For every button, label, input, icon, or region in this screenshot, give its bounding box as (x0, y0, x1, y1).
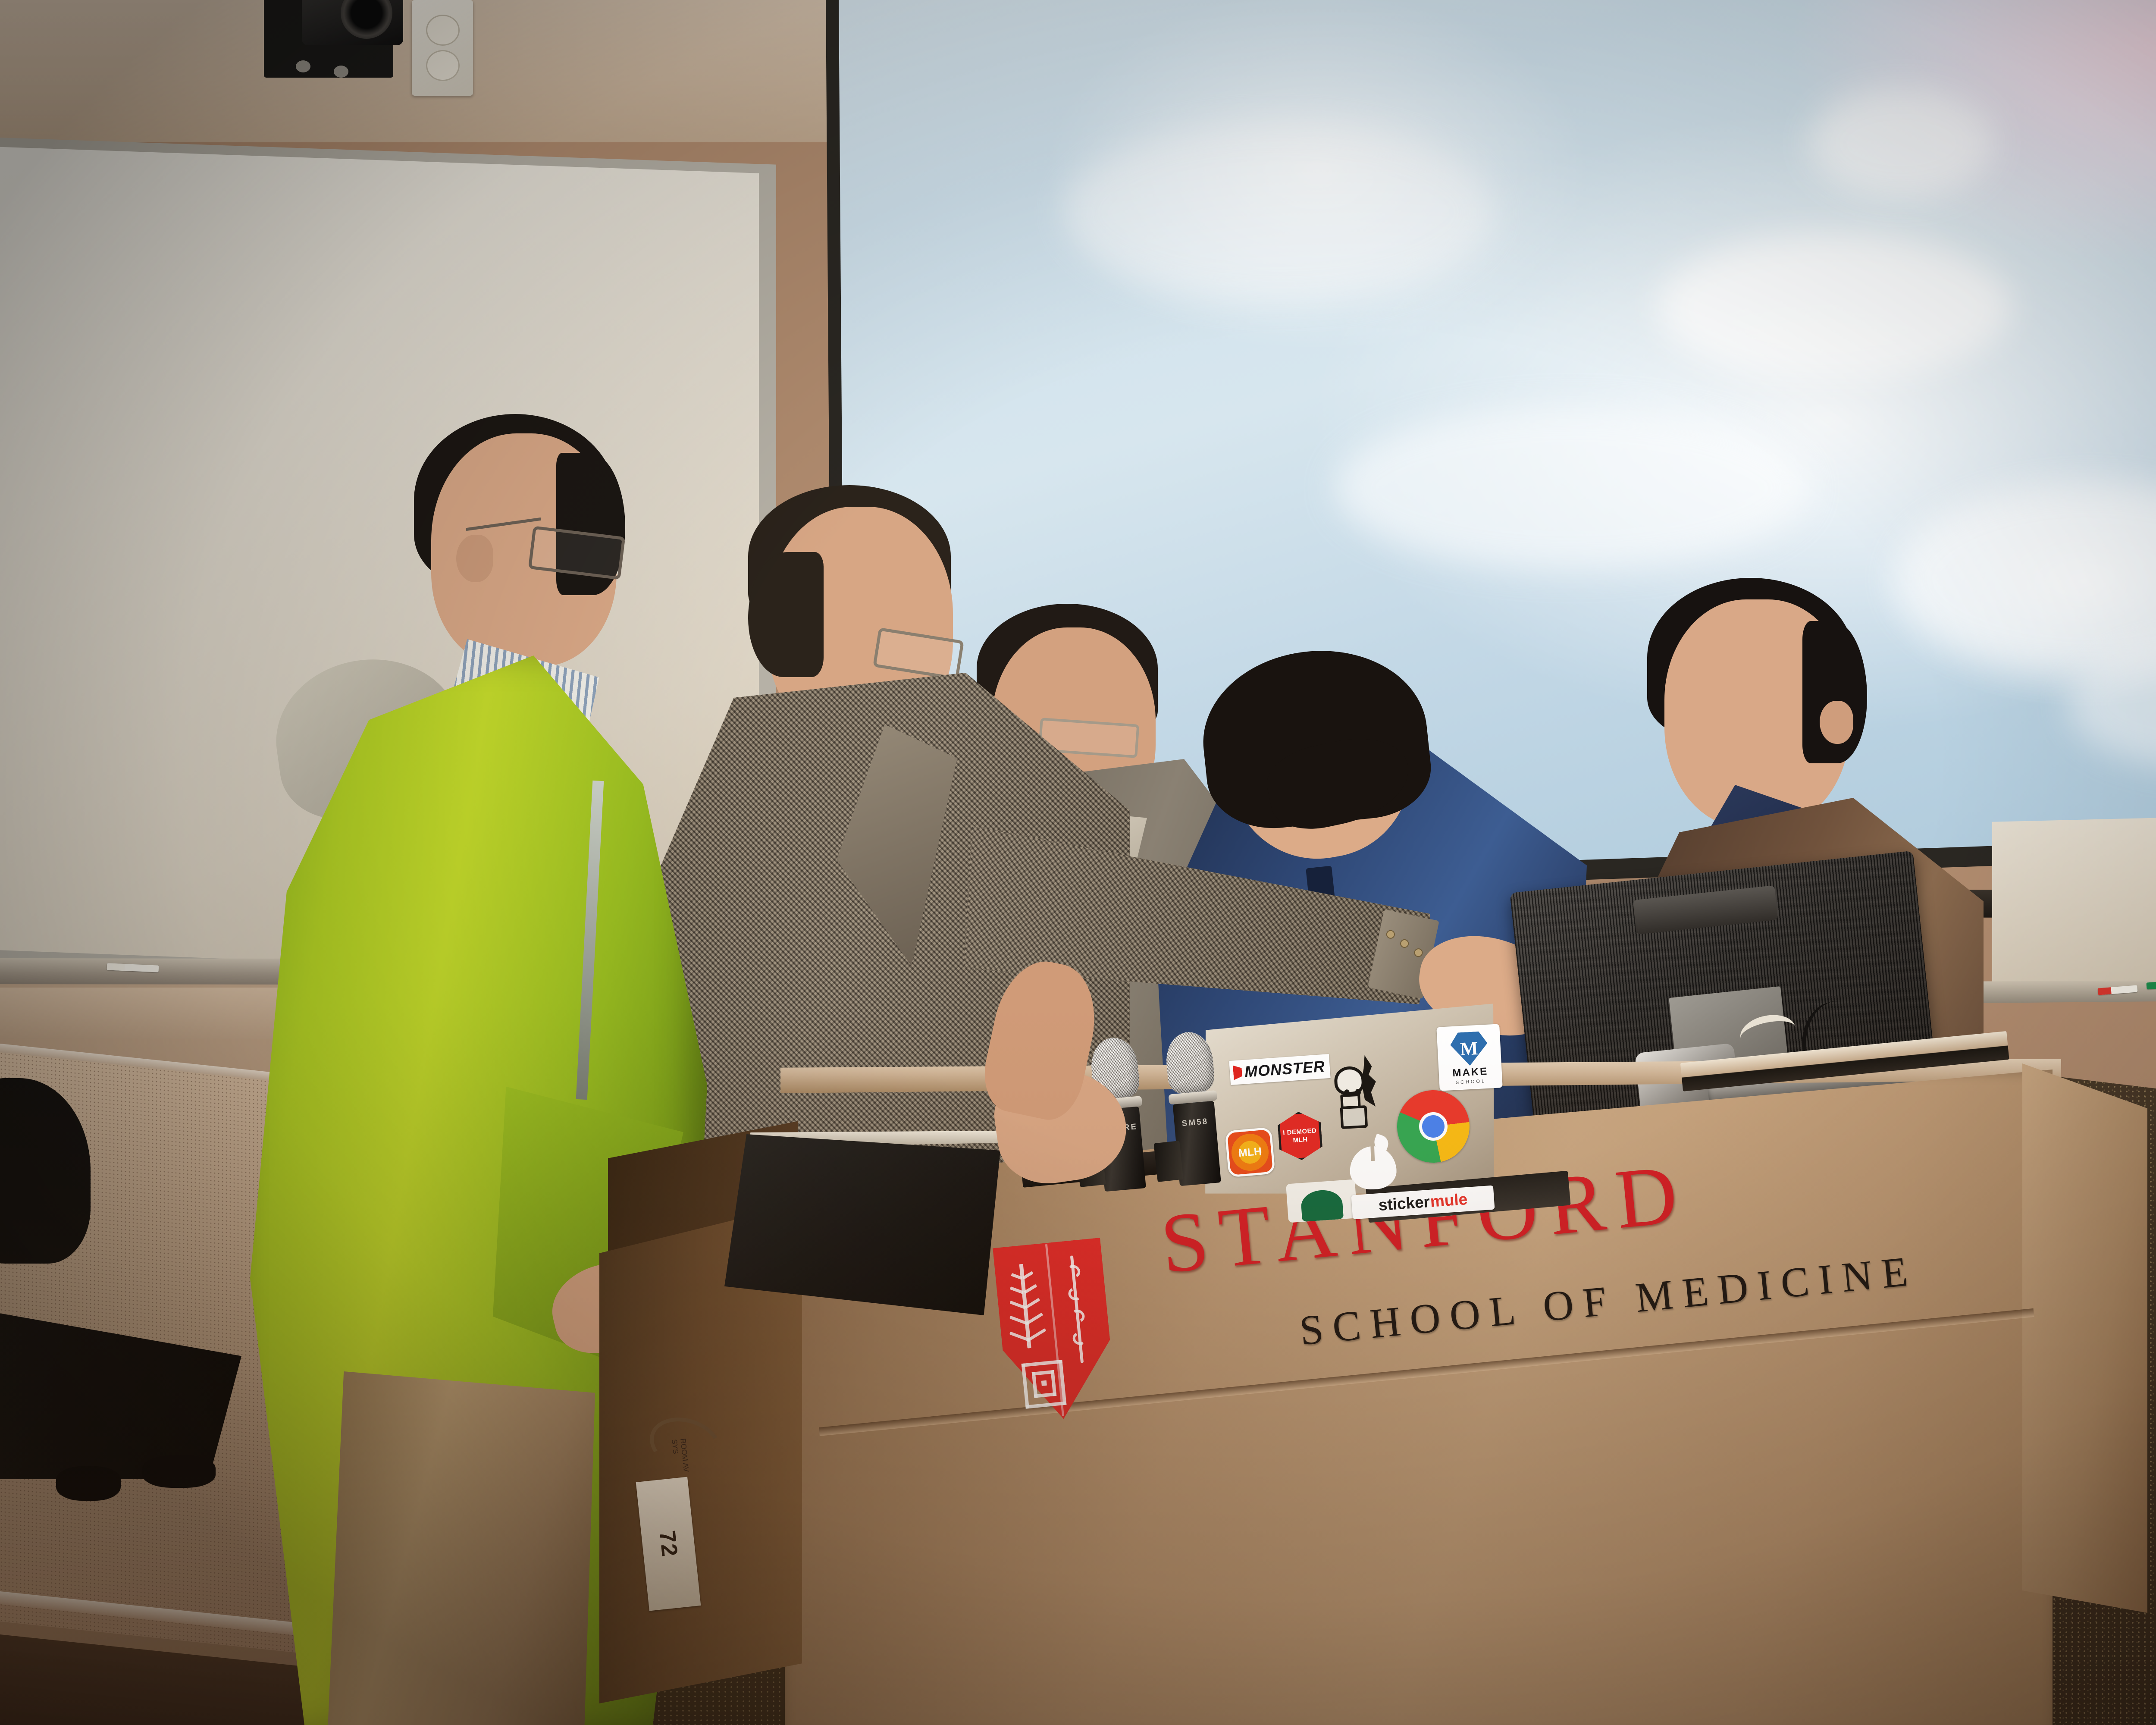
sticker-demoed-line1: I DEMOED (1283, 1127, 1317, 1136)
stickermule-part2: mule (1429, 1190, 1468, 1211)
outlet-socket-top (426, 15, 460, 46)
sticker-apple-logo (1349, 1135, 1397, 1190)
sticker-mlh-gear: MLH (1225, 1127, 1275, 1177)
sticker-monster-text: MONSTER (1244, 1057, 1326, 1081)
outlet-socket-bottom (426, 50, 460, 81)
make-school-line1: MAKE (1452, 1066, 1489, 1079)
person-green-jacket-ear (456, 535, 493, 582)
make-school-line2: SCHOOL (1455, 1079, 1486, 1085)
stanford-maze-pattern-icon (1022, 1360, 1067, 1409)
side-display-panel[interactable] (724, 1134, 1000, 1315)
podium-room-number-text: 72 (654, 1529, 683, 1559)
make-school-mark: M (1460, 1039, 1479, 1059)
office-chair-caster-1 (56, 1466, 121, 1501)
microphone-right-stand (1153, 1141, 1183, 1182)
person-green-jacket-pants (328, 1371, 595, 1725)
stickermule-part1: sticker (1378, 1193, 1430, 1214)
camera-mount-screw-left (296, 60, 310, 72)
microphone-right-brand: SM58 (1181, 1117, 1209, 1129)
podium-lower-panel (798, 1445, 2057, 1725)
sticker-skull-mascot (1330, 1054, 1385, 1132)
right-whiteboard (1992, 811, 2156, 996)
camera-mount-screw-right (334, 66, 348, 78)
classroom-scene: ROOM AV SYS 72 (0, 0, 2156, 1725)
sticker-demoed-line2: MLH (1293, 1136, 1308, 1144)
sticker-green-blob (1286, 1179, 1357, 1223)
podium-label-note: ROOM AV SYS (640, 1438, 691, 1481)
microphone-right-grille (1164, 1030, 1216, 1095)
person-brown-jacket-ear (1820, 701, 1853, 744)
monster-bar-icon (1233, 1065, 1242, 1080)
make-school-diamond-icon: M (1450, 1031, 1489, 1066)
office-chair-caster-2 (142, 1455, 216, 1488)
skull-body-icon (1340, 1105, 1368, 1129)
apple-body-icon (1349, 1145, 1397, 1190)
sticker-mlh-text: MLH (1238, 1145, 1262, 1160)
skull-head-icon (1334, 1066, 1365, 1096)
sticker-make-school: M MAKE SCHOOL (1436, 1024, 1503, 1091)
